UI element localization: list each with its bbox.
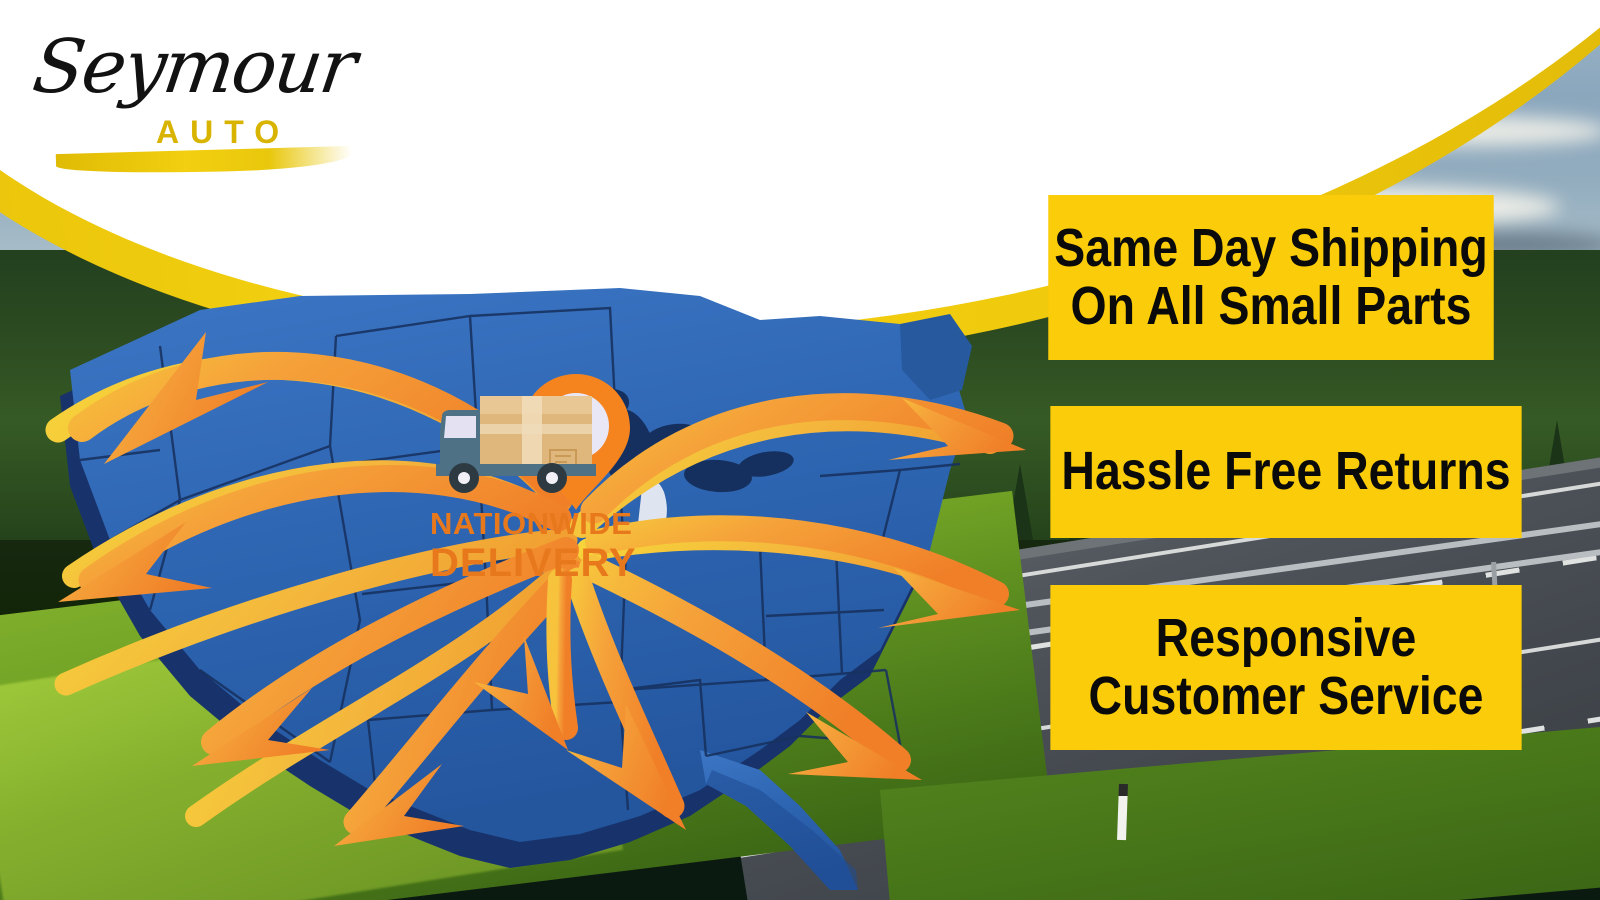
- claim-1-line-2: On All Small Parts: [1071, 278, 1472, 335]
- claim-3-line-1: Responsive: [1156, 610, 1417, 667]
- brand-logo[interactable]: Seymour AUTO: [34, 18, 364, 168]
- claim-2-line-1: Hassle Free Returns: [1061, 443, 1510, 500]
- claim-panel-same-day-shipping[interactable]: Same Day Shipping On All Small Parts: [1048, 195, 1493, 360]
- promo-banner: Seymour AUTO: [0, 0, 1600, 900]
- logo-script-name: Seymour: [28, 24, 360, 110]
- nationwide-delivery-badge: NATIONWIDE DELIVERY: [430, 368, 660, 583]
- delivery-caption: NATIONWIDE DELIVERY: [430, 508, 630, 583]
- claim-3-line-2: Customer Service: [1089, 668, 1484, 725]
- logo-sub-name: AUTO: [156, 114, 290, 151]
- delivery-caption-line1: NATIONWIDE: [430, 508, 630, 539]
- claim-1-line-1: Same Day Shipping: [1054, 220, 1488, 277]
- claim-panel-hassle-free-returns[interactable]: Hassle Free Returns: [1050, 406, 1521, 538]
- delivery-caption-line2: DELIVERY: [430, 543, 630, 583]
- claim-panel-responsive-customer-service[interactable]: Responsive Customer Service: [1050, 585, 1521, 750]
